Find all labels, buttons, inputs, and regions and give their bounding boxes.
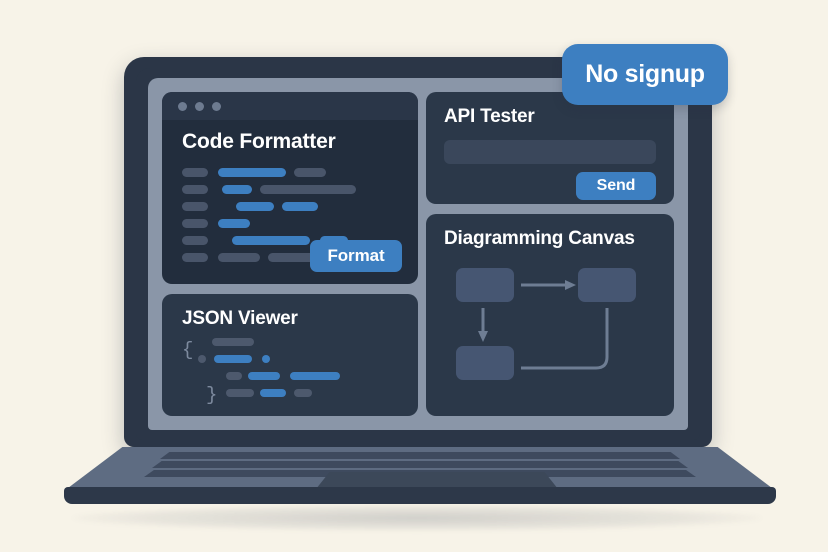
code-token: [232, 236, 310, 245]
floor-shadow: [72, 505, 762, 531]
format-button[interactable]: Format: [310, 240, 402, 272]
json-line: [182, 338, 402, 346]
json-token: [290, 372, 340, 380]
send-button[interactable]: Send: [576, 172, 656, 200]
json-token: [248, 372, 280, 380]
json-line: [182, 372, 402, 380]
yellow-dot-icon[interactable]: [195, 102, 204, 111]
code-line: [182, 219, 402, 228]
json-line: [182, 389, 402, 397]
keyboard-row-1: [160, 452, 680, 459]
json-token: [226, 372, 242, 380]
code-token: [294, 168, 326, 177]
json-token: [260, 389, 286, 397]
diagram-arrowhead-right: [565, 280, 576, 290]
diagram-node-top-left[interactable]: [456, 268, 514, 302]
json-token: [212, 338, 254, 346]
json-bullet: [262, 355, 270, 363]
code-token: [218, 168, 286, 177]
code-token: [222, 185, 252, 194]
json-line: [182, 355, 402, 363]
laptop-base-front: [64, 487, 776, 504]
panel-diagramming-canvas[interactable]: Diagramming Canvas: [426, 214, 674, 416]
json-bullet: [198, 355, 206, 363]
laptop-base: [64, 447, 776, 503]
diagram-graphic[interactable]: [426, 258, 674, 416]
panel-code-formatter[interactable]: Code Formatter Format: [162, 92, 418, 284]
no-signup-badge: No signup: [562, 44, 728, 105]
code-token: [282, 202, 318, 211]
code-token: [236, 202, 274, 211]
code-token: [218, 219, 250, 228]
code-line: [182, 202, 402, 211]
code-token: [182, 236, 208, 245]
code-token: [260, 185, 356, 194]
code-token: [218, 253, 260, 262]
code-line: [182, 168, 402, 177]
api-url-input[interactable]: [444, 140, 656, 164]
laptop-screen: Code Formatter Format JSON Viewer { } AP…: [148, 78, 688, 430]
json-preview-lines: [182, 338, 402, 406]
code-token: [182, 202, 208, 211]
json-token: [214, 355, 252, 363]
diagram-connector-elbow: [521, 308, 607, 368]
diagram-arrowhead-down: [478, 331, 488, 342]
red-dot-icon[interactable]: [178, 102, 187, 111]
json-token: [226, 389, 254, 397]
keyboard-row-2: [152, 461, 688, 468]
panel-json-viewer[interactable]: JSON Viewer { }: [162, 294, 418, 416]
code-token: [182, 168, 208, 177]
api-tester-title: API Tester: [444, 106, 535, 128]
code-token: [182, 253, 208, 262]
code-formatter-title: Code Formatter: [182, 130, 336, 154]
code-token: [182, 185, 208, 194]
code-token: [182, 219, 208, 228]
json-token: [294, 389, 312, 397]
code-formatter-titlebar: [162, 92, 418, 120]
illustration-scene: Code Formatter Format JSON Viewer { } AP…: [0, 0, 828, 552]
panel-api-tester[interactable]: API Tester Send: [426, 92, 674, 204]
code-line: [182, 185, 402, 194]
diagramming-canvas-title: Diagramming Canvas: [444, 228, 635, 250]
json-viewer-title: JSON Viewer: [182, 308, 298, 330]
diagram-node-bottom-left[interactable]: [456, 346, 514, 380]
diagram-node-top-right[interactable]: [578, 268, 636, 302]
green-dot-icon[interactable]: [212, 102, 221, 111]
